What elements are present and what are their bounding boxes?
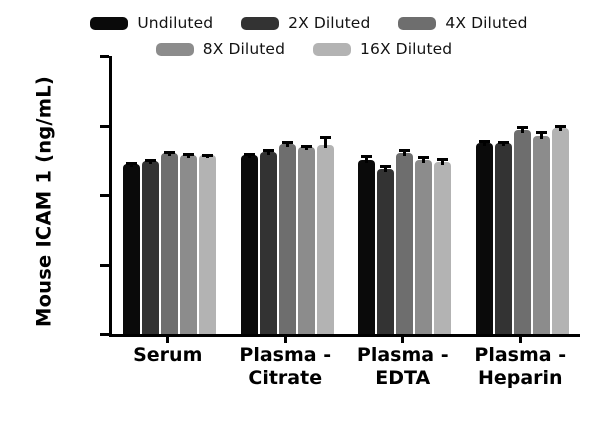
error-bar-cap	[479, 140, 490, 143]
bar[interactable]	[552, 128, 569, 334]
error-bar-cap	[244, 153, 255, 156]
x-axis-tick	[519, 334, 522, 343]
bar-chart: Undiluted 2X Diluted 4X Diluted 8X Dilut…	[0, 0, 600, 428]
bar[interactable]	[241, 155, 258, 334]
legend-swatch-icon	[241, 17, 279, 30]
error-bar-cap	[380, 165, 391, 168]
bar-group	[358, 56, 451, 334]
y-axis-tick	[100, 264, 109, 267]
legend-swatch-icon	[90, 17, 128, 30]
bar[interactable]	[180, 155, 197, 334]
bar[interactable]	[358, 160, 375, 334]
error-bar-cap	[126, 162, 137, 165]
error-bar-cap	[498, 141, 509, 144]
bar-group	[476, 56, 569, 334]
x-axis-category-label: Plasma - Heparin	[456, 344, 586, 390]
bar[interactable]	[377, 169, 394, 334]
plot-area	[109, 56, 579, 334]
error-bar-cap	[399, 149, 410, 152]
x-axis-line	[109, 334, 580, 337]
y-axis-tick	[100, 55, 109, 58]
x-axis-tick	[284, 334, 287, 343]
x-axis-tick	[166, 334, 169, 343]
legend-swatch-icon	[156, 43, 194, 56]
error-bar-cap	[320, 136, 331, 139]
y-axis-line	[109, 56, 112, 335]
error-bar-cap	[418, 156, 429, 159]
x-axis-category-label: Serum	[103, 344, 233, 367]
bar[interactable]	[260, 152, 277, 334]
error-bar-cap	[145, 159, 156, 162]
bar[interactable]	[434, 162, 451, 334]
bar[interactable]	[317, 145, 334, 334]
legend-row-1: Undiluted 2X Diluted 4X Diluted	[0, 10, 600, 36]
error-bar-cap	[183, 153, 194, 156]
bar[interactable]	[199, 155, 216, 334]
legend-label: Undiluted	[137, 14, 213, 32]
bar[interactable]	[514, 130, 531, 334]
error-bar-cap	[536, 131, 547, 134]
y-axis-tick	[100, 125, 109, 128]
legend-item-2x-diluted: 2X Diluted	[241, 14, 370, 32]
bar[interactable]	[123, 164, 140, 334]
chart-legend: Undiluted 2X Diluted 4X Diluted 8X Dilut…	[0, 10, 600, 62]
x-axis-category-labels: SerumPlasma - CitratePlasma - EDTAPlasma…	[109, 344, 580, 404]
bar-group	[123, 56, 216, 334]
bar[interactable]	[142, 161, 159, 334]
bar-group	[241, 56, 334, 334]
error-bar-cap	[301, 145, 312, 148]
error-bar-cap	[437, 158, 448, 161]
bar[interactable]	[476, 143, 493, 334]
bar[interactable]	[533, 136, 550, 334]
bar[interactable]	[161, 153, 178, 334]
error-bar-cap	[263, 149, 274, 152]
bar[interactable]	[396, 153, 413, 334]
y-axis-title: Mouse ICAM 1 (ng/mL)	[33, 42, 56, 362]
legend-swatch-icon	[313, 43, 351, 56]
legend-label: 4X Diluted	[445, 14, 527, 32]
error-bar-cap	[202, 154, 213, 157]
bar[interactable]	[415, 160, 432, 334]
legend-item-undiluted: Undiluted	[90, 14, 213, 32]
bar[interactable]	[279, 144, 296, 334]
legend-item-4x-diluted: 4X Diluted	[398, 14, 527, 32]
bar[interactable]	[298, 147, 315, 334]
legend-swatch-icon	[398, 17, 436, 30]
legend-label: 2X Diluted	[288, 14, 370, 32]
x-axis-tick	[401, 334, 404, 343]
y-axis-tick	[100, 194, 109, 197]
error-bar-cap	[282, 141, 293, 144]
error-bar-cap	[361, 155, 372, 158]
bar[interactable]	[495, 143, 512, 334]
x-axis-category-label: Plasma - Citrate	[221, 344, 351, 390]
x-axis-category-label: Plasma - EDTA	[338, 344, 468, 390]
error-bar-cap	[517, 126, 528, 129]
y-axis-tick	[100, 333, 109, 336]
error-bar-cap	[555, 125, 566, 128]
error-bar-cap	[164, 151, 175, 154]
